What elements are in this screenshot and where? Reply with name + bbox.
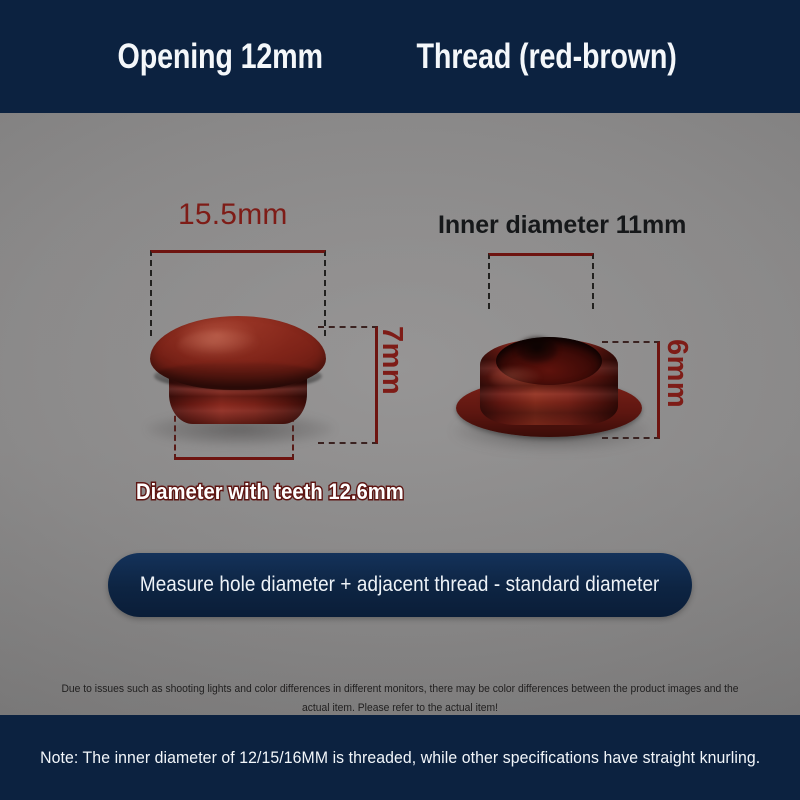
right-inner-diameter-bracket: [488, 253, 594, 309]
header-title-opening: Opening 12mm: [118, 37, 323, 77]
measurement-instruction-banner: Measure hole diameter + adjacent thread …: [108, 553, 692, 617]
left-teeth-dimension-label: Diameter with teeth 12.6mm: [136, 479, 404, 505]
left-plug-highlight: [178, 330, 262, 360]
header-banner: Opening 12mm Thread (red-brown): [0, 0, 800, 113]
header-title-thread: Thread (red-brown): [416, 37, 676, 77]
right-height-dimension-label: 6mm: [660, 339, 693, 441]
left-height-dimension-label: 7mm: [375, 326, 408, 444]
footer-note-text: Note: The inner diameter of 12/15/16MM i…: [40, 748, 760, 768]
product-stage: 15.5mm 7mm Diameter with teeth 12.6mm In…: [0, 113, 800, 715]
header-title-group: Opening 12mm Thread (red-brown): [95, 37, 705, 77]
measurement-instruction-text: Measure hole diameter + adjacent thread …: [140, 573, 660, 597]
color-disclaimer-text: Due to issues such as shooting lights an…: [50, 680, 749, 715]
left-plug-head-rim: [154, 362, 322, 390]
right-product-group: Inner diameter 11mm 6mm: [438, 211, 718, 591]
footer-banner: Note: The inner diameter of 12/15/16MM i…: [0, 715, 800, 800]
right-inner-diameter-label: Inner diameter 11mm: [438, 211, 686, 240]
right-plug-image: [454, 323, 644, 453]
right-plug-cavity-shadow: [516, 337, 558, 363]
left-plug-image: [150, 316, 326, 438]
product-infographic: Opening 12mm Thread (red-brown) 15.5mm 7…: [0, 0, 800, 800]
right-plug-highlight: [490, 367, 542, 389]
left-width-dimension-label: 15.5mm: [178, 198, 288, 232]
